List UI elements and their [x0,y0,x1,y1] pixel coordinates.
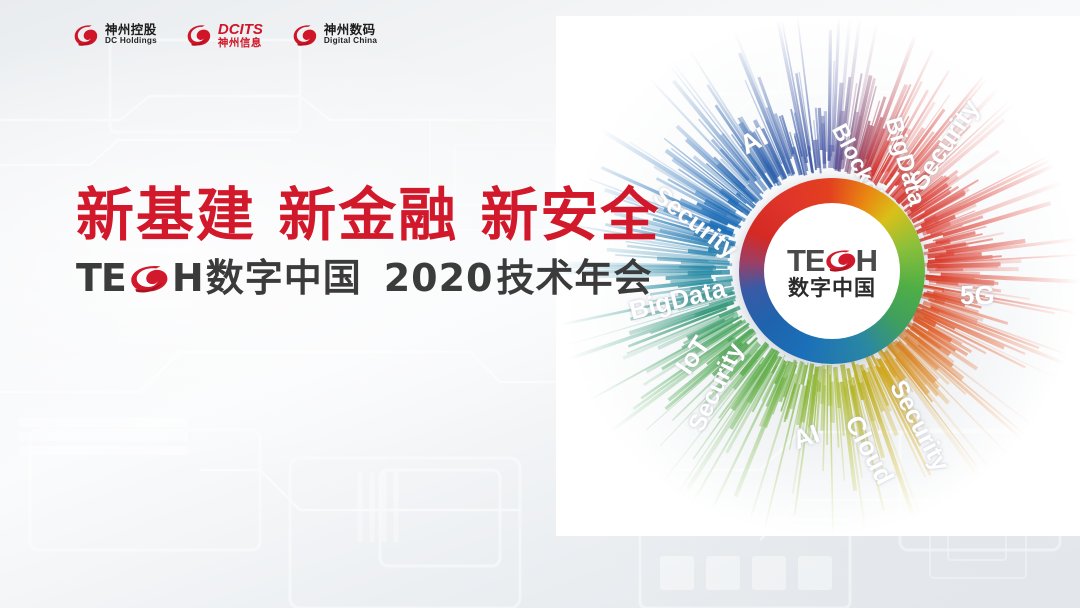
headline-main: 新基建 新金融 新安全 [76,186,660,245]
subtitle-cn: 数字中国 [206,259,362,297]
subtitle-event: 技术年会 [496,259,652,297]
logo-label-cn-sub: 神州信息 [218,38,263,49]
logo-label-en: Digital China [324,37,377,46]
dc-swoosh-icon [72,22,99,48]
logo-dc-holdings: 神州控股 DC Holdings [72,22,157,48]
logo-label-en: DC Holdings [105,37,157,46]
headline-subtitle: TE H 数字中国 2020 技术年会 [76,259,660,297]
dc-swoosh-icon [824,248,857,272]
header-logo-bar: 神州控股 DC Holdings DCITS 神州信息 神州数码 Digital… [72,22,377,49]
logo-label-dcits: DCITS [218,22,263,38]
emblem-tech-wordmark: TE H [787,243,877,277]
poster-canvas: 神州控股 DC Holdings DCITS 神州信息 神州数码 Digital… [0,0,1080,608]
subtitle-year: 2020 [384,259,494,297]
logo-dcits: DCITS 神州信息 [185,22,263,49]
logo-digital-china: 神州数码 Digital China [291,22,377,48]
dc-swoosh-icon [127,263,171,293]
headline-block: 新基建 新金融 新安全 TE H 数字中国 2020 技术年会 [76,186,660,297]
tech-digital-china-emblem: TE H 数字中国 [739,178,925,364]
emblem-tech-right: H [856,245,877,276]
emblem-inner-disc: TE H 数字中国 [764,203,900,339]
emblem-tech-left: TE [787,245,825,276]
dc-swoosh-icon [291,22,318,48]
emblem-cn-label: 数字中国 [788,278,876,299]
subtitle-te: TE [76,259,126,297]
subtitle-h: H [172,259,203,297]
dc-swoosh-icon [185,22,212,48]
